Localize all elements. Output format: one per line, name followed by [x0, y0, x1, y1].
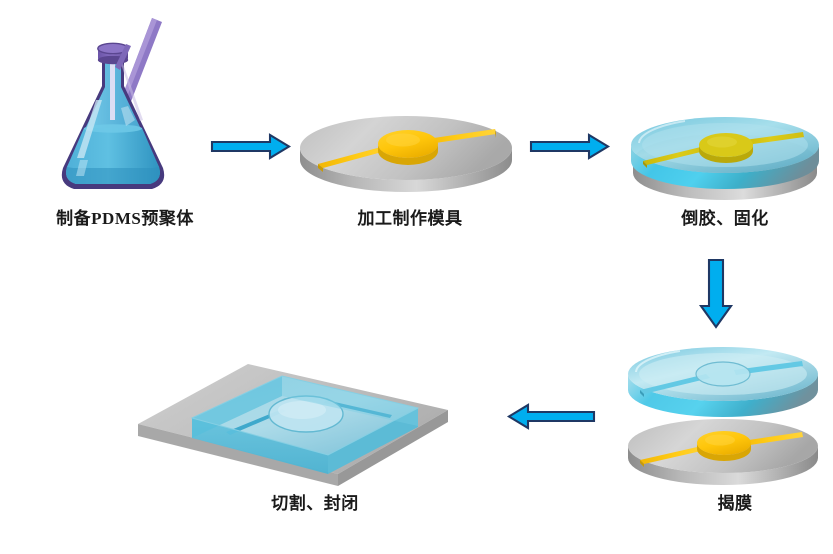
step-2-figure — [296, 108, 516, 198]
step-3-caption: 倒胶、固化 — [640, 210, 810, 227]
step-5-caption: 切割、封闭 — [215, 495, 415, 512]
pour-cure-disc-icon — [625, 105, 825, 205]
step-4-figure — [622, 340, 827, 490]
step-2-caption: 加工制作模具 — [310, 210, 510, 227]
flask-body — [62, 55, 164, 189]
step-4-caption: 揭膜 — [660, 495, 810, 512]
bonded-chip-icon — [130, 352, 460, 487]
step-5-figure — [130, 352, 460, 487]
arrow-step2-to-step3 — [529, 132, 611, 162]
step-1-caption: 制备PDMS预聚体 — [0, 210, 250, 227]
mold-disc-icon — [296, 108, 516, 198]
arrow-step3-to-step4 — [698, 258, 734, 330]
arrow-step4-to-step5 — [506, 402, 596, 432]
mold-disc-lower — [628, 419, 818, 485]
arrow-step1-to-step2 — [210, 132, 292, 162]
step-1-figure — [40, 8, 210, 203]
peel-membrane-icon — [622, 340, 827, 490]
process-diagram-canvas: 制备PDMS预聚体 — [0, 0, 833, 554]
step-3-figure — [625, 105, 825, 205]
pdms-membrane — [628, 347, 818, 417]
erlenmeyer-flask-icon — [40, 8, 210, 203]
